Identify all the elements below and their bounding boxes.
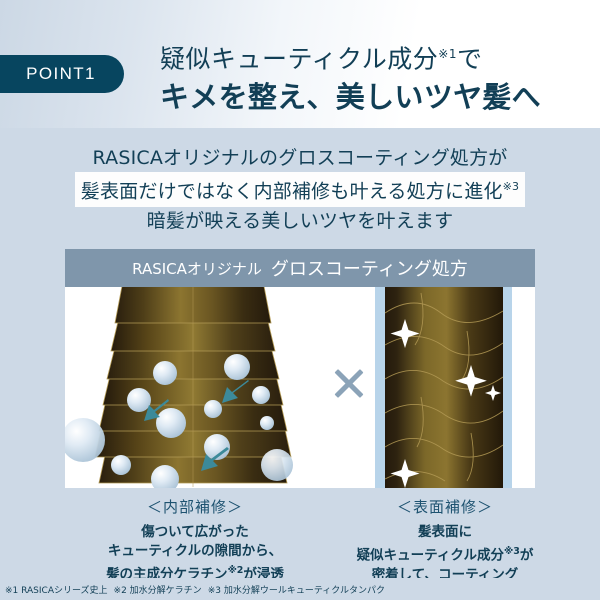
diagram-panel-body (65, 287, 535, 488)
footnote-3: ※3 加水分解ウールキューティクルタンパク (208, 583, 385, 596)
hair-shaft-body (385, 287, 503, 488)
caption-left-footnote-mark: ※2 (228, 565, 244, 576)
caption-left-title: ＜内部補修＞ (60, 496, 330, 518)
header-line-1-text: 疑似キューティクル成分 (160, 44, 438, 73)
caption-right-line-1: 髪表面に (330, 523, 560, 542)
coated-cuticle-illustration (375, 287, 535, 488)
caption-left-line-2: キューティクルの隙間から、 (60, 542, 330, 561)
x-mark-icon (331, 365, 367, 401)
shaft-left-edge-gloss (375, 287, 385, 488)
body-area: RASICAオリジナルのグロスコーティング処方が 髪表面だけではなく内部補修も叶… (0, 128, 600, 578)
caption-right-line-2-text: 疑似キューティクル成分 (357, 548, 504, 564)
footnotes-bar: ※1 RASICAシリーズ史上 ※2 加水分解ケラチン ※3 加水分解ウールキュ… (0, 578, 600, 600)
lead-row-2: 髪表面だけではなく内部補修も叶える処方に進化※3 (0, 172, 600, 207)
caption-left-body: 傷ついて広がった キューティクルの隙間から、 髪の主成分ケラチン※2が浸透 (60, 523, 330, 585)
lead-line-2-footnote-mark: ※3 (503, 180, 520, 193)
caption-right-line-2-tail: が (520, 548, 534, 564)
lead-line-2-text: 髪表面だけではなく内部補修も叶える処方に進化 (81, 180, 503, 202)
header-band: POINT1 疑似キューティクル成分※1で キメを整え、美しいツヤ髪へ (0, 0, 600, 128)
caption-surface-repair: ＜表面補修＞ 髪表面に 疑似キューティクル成分※3が 密着して、コーティング (330, 496, 560, 585)
caption-right-footnote-mark: ※3 (504, 546, 520, 557)
damaged-cuticle-svg (65, 287, 323, 488)
header-line-1-footnote-mark: ※1 (438, 47, 457, 61)
caption-left-line-1: 傷ついて広がった (60, 523, 330, 542)
diagram-panel: RASICAオリジナル グロスコーティング処方 (65, 249, 535, 488)
lead-paragraph: RASICAオリジナルのグロスコーティング処方が 髪表面だけではなく内部補修も叶… (0, 144, 600, 235)
point-badge-label: POINT1 (14, 64, 96, 84)
damaged-cuticle-illustration (65, 287, 323, 488)
point-badge: POINT1 (0, 55, 124, 93)
lead-row-1: RASICAオリジナルのグロスコーティング処方が (0, 144, 600, 172)
lead-line-1: RASICAオリジナルのグロスコーティング処方が (92, 147, 507, 169)
header-line-2: キメを整え、美しいツヤ髪へ (160, 79, 590, 115)
header-heading: 疑似キューティクル成分※1で キメを整え、美しいツヤ髪へ (160, 38, 590, 115)
header-line-1-tail: で (457, 44, 483, 73)
lead-line-3: 暗髪が映える美しいツヤを叶えます (147, 210, 454, 232)
diagram-panel-header: RASICAオリジナル グロスコーティング処方 (65, 249, 535, 287)
footnote-1: ※1 RASICAシリーズ史上 (5, 583, 108, 596)
coated-cuticle-svg (375, 287, 535, 488)
caption-right-line-2: 疑似キューティクル成分※3が (330, 542, 560, 566)
caption-internal-repair: ＜内部補修＞ 傷ついて広がった キューティクルの隙間から、 髪の主成分ケラチン※… (60, 496, 330, 585)
footnote-2: ※2 加水分解ケラチン (114, 583, 202, 596)
caption-right-body: 髪表面に 疑似キューティクル成分※3が 密着して、コーティング (330, 523, 560, 585)
infographic-page: POINT1 疑似キューティクル成分※1で キメを整え、美しいツヤ髪へ RASI… (0, 0, 600, 600)
shaft-right-edge-gloss (503, 287, 512, 488)
lead-line-2-highlight: 髪表面だけではなく内部補修も叶える処方に進化※3 (75, 172, 525, 207)
comparison-divider (323, 287, 375, 488)
caption-right-title: ＜表面補修＞ (330, 496, 560, 518)
header-line-1: 疑似キューティクル成分※1で (160, 38, 590, 75)
panel-header-title: グロスコーティング処方 (271, 255, 468, 281)
lead-row-3: 暗髪が映える美しいツヤを叶えます (0, 207, 600, 235)
panel-header-brand: RASICAオリジナル (132, 258, 262, 279)
